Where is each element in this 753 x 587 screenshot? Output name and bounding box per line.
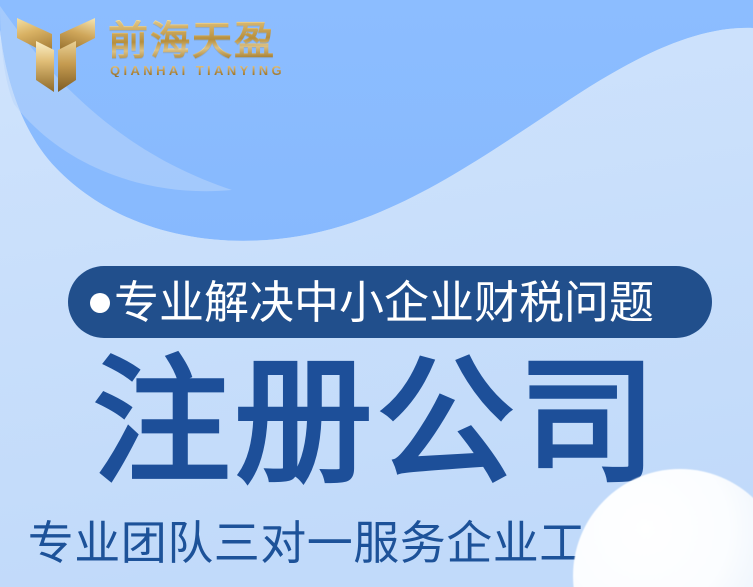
headline-title: 注册公司	[0, 352, 753, 494]
bullet-dot-icon	[90, 293, 110, 313]
brand-name-cn: 前海天盈	[108, 20, 285, 62]
promo-banner: 前海天盈 QIANHAI TIANYING 专业解决中小企业财税问题 注册公司 …	[0, 0, 753, 587]
gold-trifold-t-logo-icon	[14, 8, 98, 94]
feature-pill: 专业解决中小企业财税问题	[68, 266, 712, 338]
feature-pill-label: 专业解决中小企业财税问题	[114, 280, 654, 325]
brand-text: 前海天盈 QIANHAI TIANYING	[108, 8, 285, 77]
brand-logo: 前海天盈 QIANHAI TIANYING	[14, 8, 285, 94]
brand-name-en: QIANHAI TIANYING	[108, 64, 285, 77]
